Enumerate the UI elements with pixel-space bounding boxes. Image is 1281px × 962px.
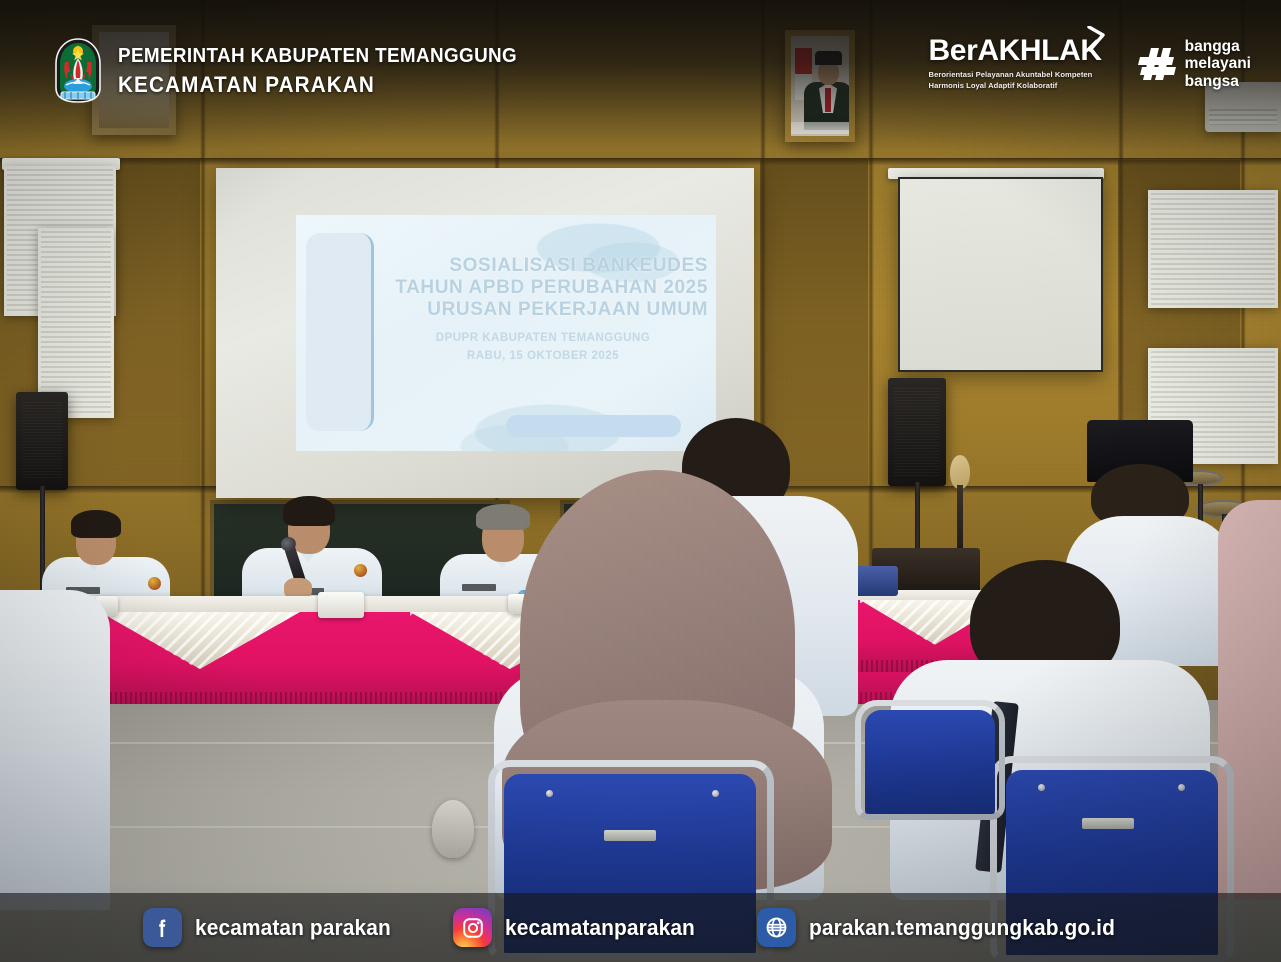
electric-guitar bbox=[950, 455, 970, 551]
pa-speaker-left bbox=[16, 392, 68, 490]
tissue-box bbox=[318, 592, 364, 618]
slide-subtitle-line2: RABU, 15 OKTOBER 2025 bbox=[378, 348, 708, 364]
header-branding-right: BerAKHLAK Berorientasi Pelayanan Akuntab… bbox=[929, 30, 1251, 92]
header-branding-left: PEMERINTAH KABUPATEN TEMANGGUNG KECAMATA… bbox=[52, 38, 552, 104]
social-media-poster: SOSIALISASI BANKEUDES TAHUN APBD PERUBAH… bbox=[0, 0, 1281, 962]
slide-title-line2: TAHUN APBD PERUBAHAN 2025 bbox=[378, 277, 708, 299]
slide-subtitle-line1: DPUPR KABUPATEN TEMANGGUNG bbox=[378, 330, 708, 346]
bangga-line3: bangsa bbox=[1185, 73, 1251, 90]
footer-social-bar: kecamatan parakan kecamatanparakan p bbox=[0, 893, 1281, 962]
slide-sidebar-shape bbox=[306, 233, 374, 431]
footer-instagram-label: kecamatanparakan bbox=[505, 915, 695, 941]
footer-instagram-link[interactable]: kecamatanparakan bbox=[453, 908, 709, 947]
secondary-projection-screen bbox=[898, 177, 1103, 372]
facebook-icon[interactable] bbox=[143, 908, 182, 947]
instagram-icon[interactable] bbox=[453, 908, 492, 947]
slide-title-line3: URUSAN PEKERJAAN UMUM bbox=[378, 299, 708, 321]
chevron-swoosh-icon bbox=[1086, 26, 1106, 52]
slide-title-line1: SOSIALISASI BANKEUDES bbox=[378, 255, 708, 277]
bangga-line2: melayani bbox=[1185, 55, 1251, 72]
pa-speaker-right bbox=[888, 378, 946, 486]
globe-icon[interactable] bbox=[757, 908, 796, 947]
projected-slide: SOSIALISASI BANKEUDES TAHUN APBD PERUBAH… bbox=[296, 215, 716, 451]
bangga-line1: bangga bbox=[1185, 38, 1251, 55]
window-blind bbox=[38, 228, 114, 418]
temanggung-regency-coat-of-arms-icon bbox=[52, 38, 104, 104]
bangga-melayani-bangsa-logo: bangga melayani bangsa bbox=[1138, 30, 1251, 90]
berakhlak-main: AKHLAK bbox=[977, 34, 1101, 67]
berakhlak-tagline-line1: Berorientasi Pelayanan Akuntabel Kompete… bbox=[929, 70, 1102, 81]
berakhlak-prefix: Ber bbox=[929, 34, 978, 67]
berakhlak-tagline-line2: Harmonis Loyal Adaptif Kolaboratif bbox=[929, 81, 1102, 92]
footer-website-label: parakan.temanggungkab.go.id bbox=[809, 915, 1115, 941]
footer-facebook-label: kecamatan parakan bbox=[195, 915, 391, 941]
audience-chair-mid bbox=[855, 700, 1005, 820]
window-blind bbox=[1148, 190, 1278, 308]
footer-facebook-link[interactable]: kecamatan parakan bbox=[143, 908, 406, 947]
header-title-line1: PEMERINTAH KABUPATEN TEMANGGUNG bbox=[118, 46, 517, 67]
audience-member-far-left bbox=[0, 590, 90, 910]
footer-website-link[interactable]: parakan.temanggungkab.go.id bbox=[757, 908, 1138, 947]
bangga-melayani-bangsa-hash-icon bbox=[1138, 44, 1178, 84]
header-title-line2: KECAMATAN PARAKAN bbox=[118, 74, 526, 96]
emblem-patch bbox=[432, 800, 474, 858]
berakhlak-logo: BerAKHLAK Berorientasi Pelayanan Akuntab… bbox=[929, 30, 1102, 92]
